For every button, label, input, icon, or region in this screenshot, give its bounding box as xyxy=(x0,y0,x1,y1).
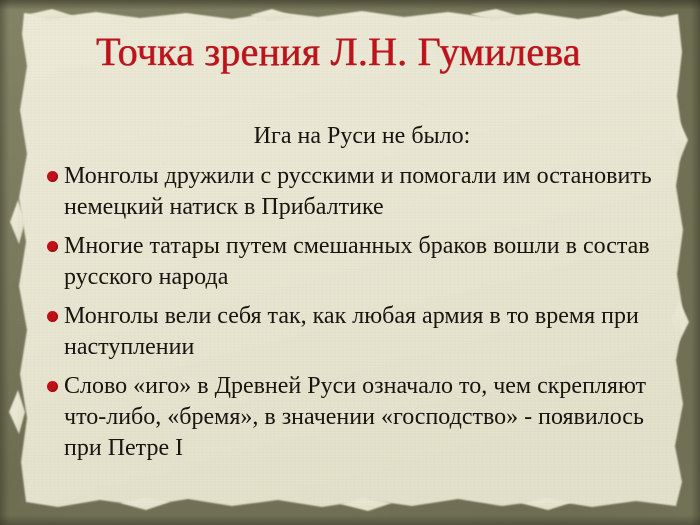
slide-content: Точка зрения Л.Н. Гумилева Ига на Руси н… xyxy=(0,0,700,525)
bullet-dot-icon xyxy=(47,171,58,182)
bullet-item: Монголы дружили с русскими и помогали им… xyxy=(42,161,662,223)
bullet-item: Многие татары путем смешанных браков вош… xyxy=(42,231,662,293)
bullet-item-text: Слово «иго» в Древней Руси означало то, … xyxy=(64,373,646,461)
bullet-item: Монголы вели себя так, как любая армия в… xyxy=(42,301,662,363)
slide-body: Ига на Руси не было: Монголы дружили с р… xyxy=(42,121,662,464)
bullet-dot-icon xyxy=(47,381,58,392)
bullet-item-text: Монголы вели себя так, как любая армия в… xyxy=(64,303,639,360)
bullet-dot-icon xyxy=(47,311,58,322)
bullet-dot-icon xyxy=(47,241,58,252)
bullet-list: Монголы дружили с русскими и помогали им… xyxy=(42,161,662,464)
bullet-item-text: Монголы дружили с русскими и помогали им… xyxy=(64,163,652,220)
bullet-item-text: Многие татары путем смешанных браков вош… xyxy=(64,233,650,290)
bullet-item: Слово «иго» в Древней Руси означало то, … xyxy=(42,371,662,464)
slide-title: Точка зрения Л.Н. Гумилева xyxy=(96,26,656,78)
lead-statement: Ига на Руси не было: xyxy=(42,121,662,152)
slide: Точка зрения Л.Н. Гумилева Ига на Руси н… xyxy=(0,0,700,525)
